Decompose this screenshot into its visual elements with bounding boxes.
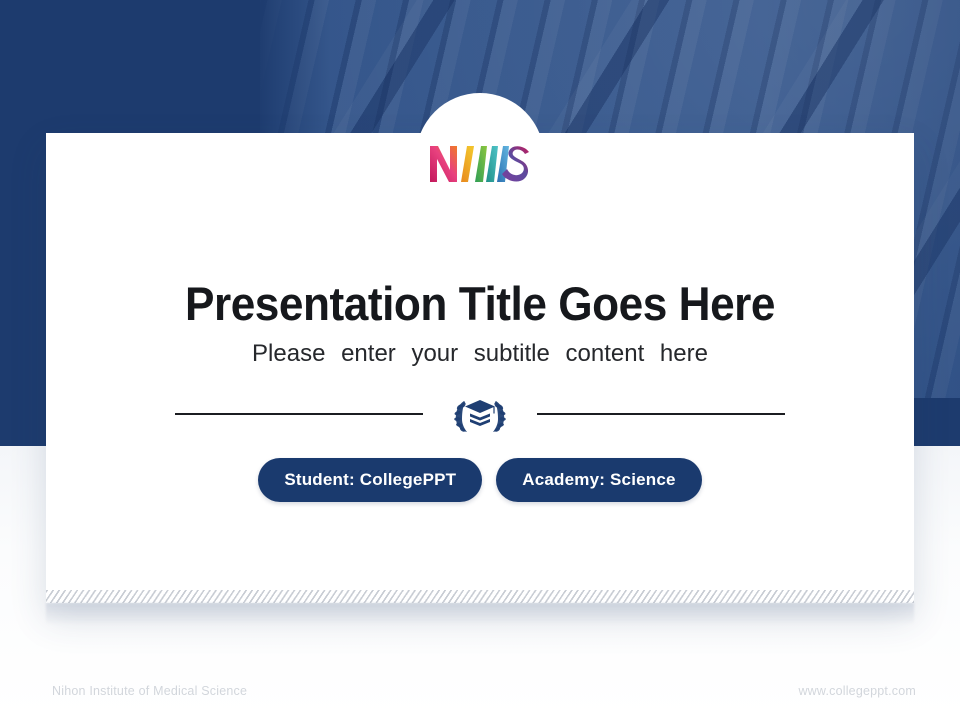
card-bottom-hatch-strip <box>46 590 914 603</box>
slide-title: Presentation Title Goes Here <box>29 276 931 332</box>
divider-rule-right <box>537 413 785 415</box>
info-pill-row: Student: CollegePPT Academy: Science <box>0 458 960 502</box>
student-pill[interactable]: Student: CollegePPT <box>258 458 482 502</box>
nims-logo <box>428 140 532 186</box>
divider-row <box>0 392 960 436</box>
slide-subtitle: Please enter your subtitle content here <box>0 338 960 370</box>
academy-pill[interactable]: Academy: Science <box>496 458 701 502</box>
footer-website[interactable]: www.collegeppt.com <box>798 684 916 698</box>
card-bottom-shadow <box>46 603 914 625</box>
logo-area <box>0 140 960 190</box>
footer-institution: Nihon Institute of Medical Science <box>52 684 247 698</box>
graduation-laurel-emblem <box>449 392 511 436</box>
presentation-slide: Presentation Title Goes Here Please ente… <box>0 0 960 720</box>
divider-rule-left <box>175 413 423 415</box>
